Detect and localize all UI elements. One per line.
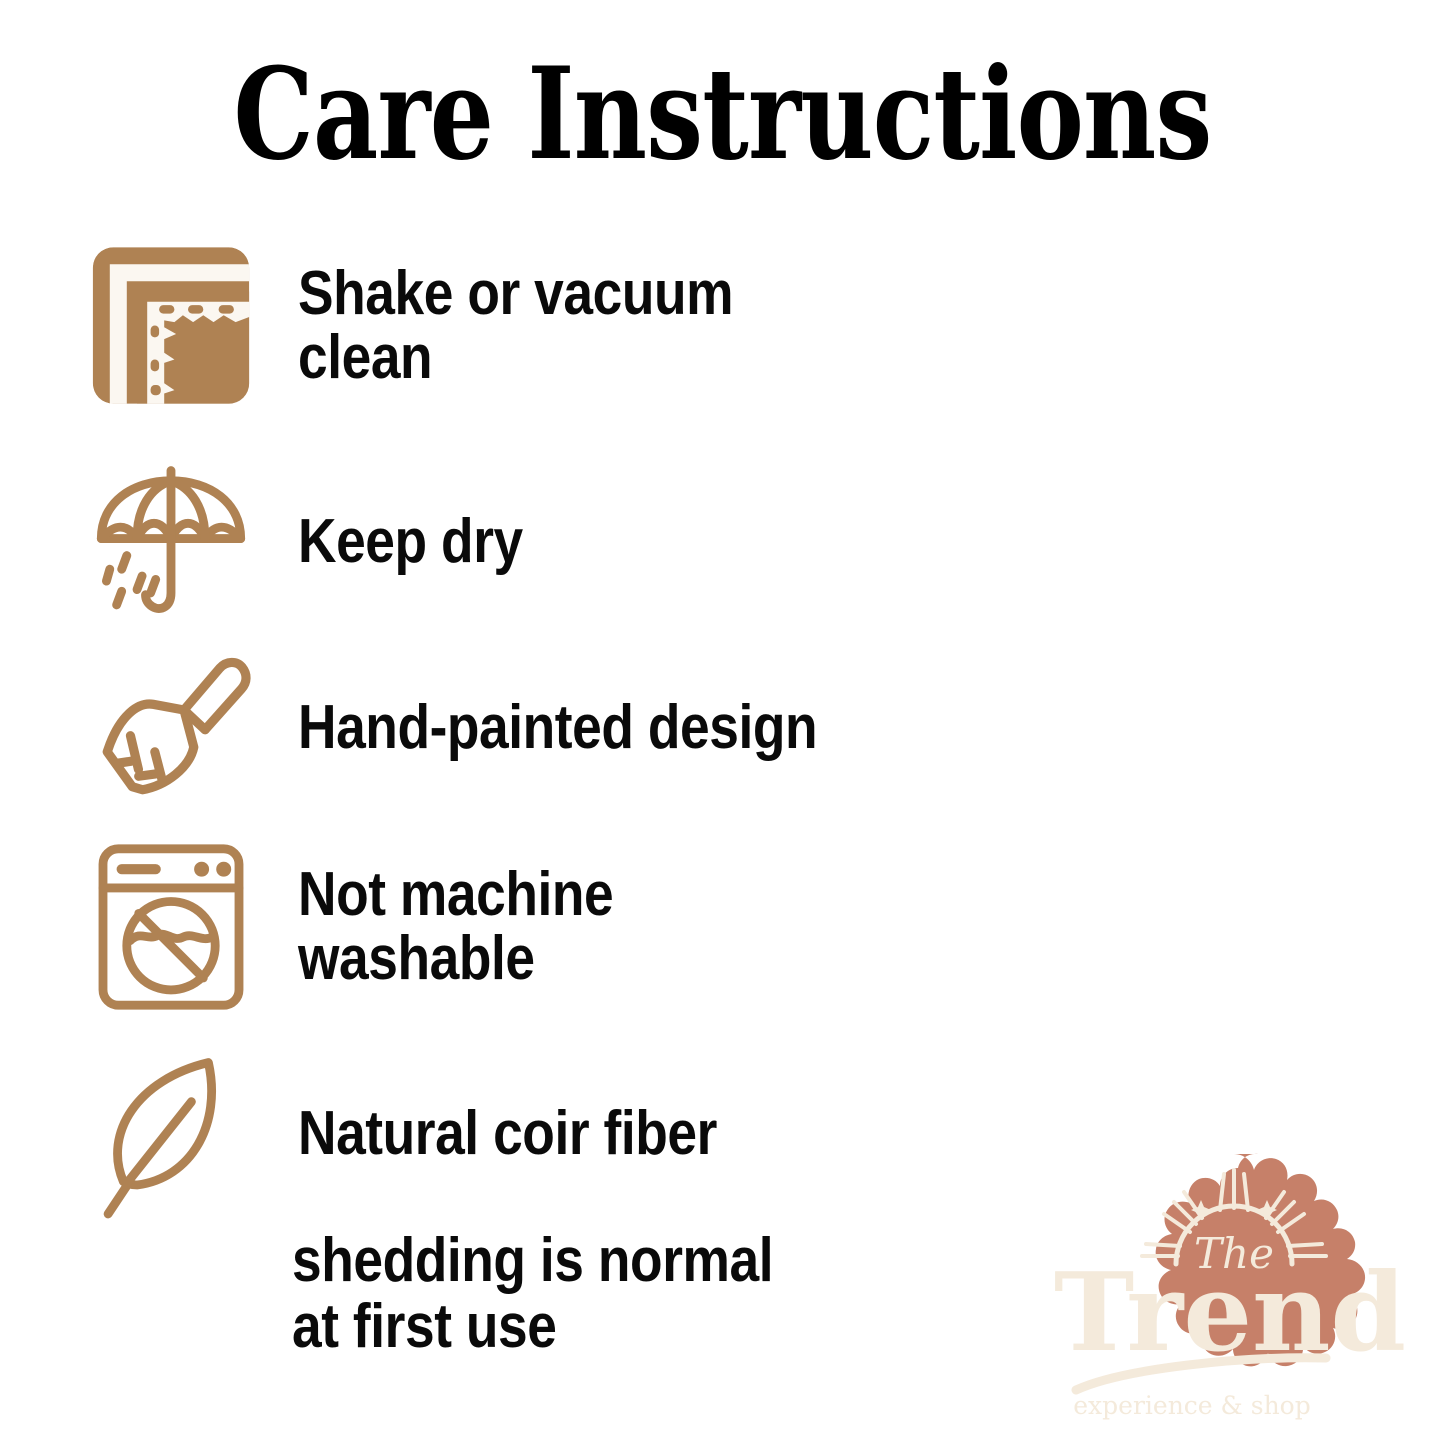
instruction-label: Natural coir fiber <box>298 1102 717 1166</box>
instruction-row: Hand-painted design <box>86 640 902 815</box>
paint-brush-icon <box>86 640 256 815</box>
umbrella-rain-icon <box>86 452 256 632</box>
care-instructions-card: Care Instructions <box>0 0 1445 1445</box>
instruction-row: Keep dry <box>86 452 559 632</box>
instruction-row: Shake or vacuum clean <box>86 238 804 413</box>
instruction-label: Keep dry <box>298 510 523 574</box>
brand-logo: The Trend experience & shop <box>1034 1152 1434 1444</box>
instruction-label: Not machine washable <box>298 863 613 991</box>
leaf-icon <box>86 1048 256 1220</box>
rug-texture-icon <box>86 238 256 413</box>
instruction-label: Hand-painted design <box>298 696 817 760</box>
instruction-label: Shake or vacuum clean <box>298 262 733 390</box>
page-title: Care Instructions <box>145 46 1301 182</box>
instruction-row: Natural coir fiber <box>86 1048 785 1220</box>
footnote-text: shedding is normal at first use <box>292 1228 773 1359</box>
instruction-row: Not machine washable <box>86 832 665 1022</box>
no-machine-wash-icon <box>86 832 256 1022</box>
logo-tagline: experience & shop <box>1073 1391 1310 1420</box>
